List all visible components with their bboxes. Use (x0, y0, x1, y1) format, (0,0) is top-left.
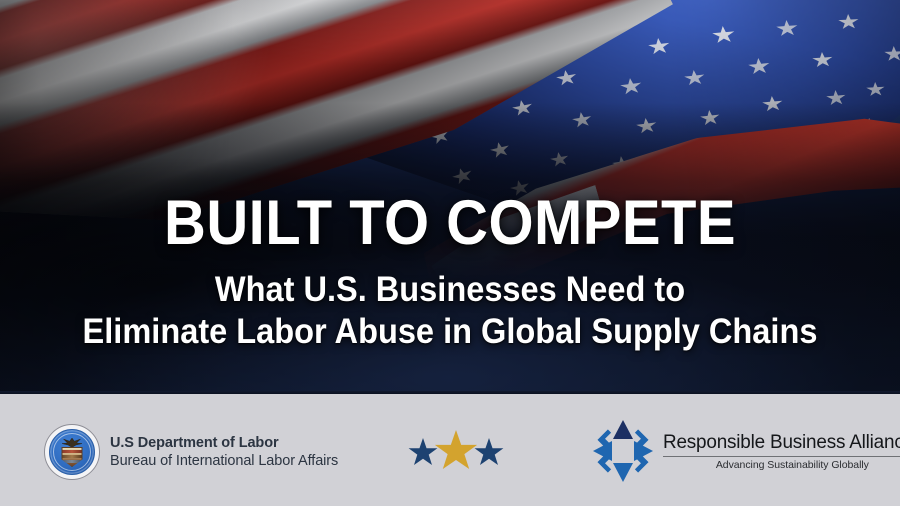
dol-agency-name: U.S Department of Labor (110, 434, 338, 452)
rba-organization-name: Responsible Business Alliance (663, 431, 900, 454)
subtitle-line-1: What U.S. Businesses Need to (32, 270, 869, 310)
seal-lettering-ring (50, 430, 94, 474)
star-right (474, 438, 504, 467)
seal-inner-disc (49, 429, 95, 475)
rba-logo-text: Responsible Business Alliance Advancing … (663, 431, 900, 471)
three-stars-icon (408, 430, 504, 474)
rba-tagline: Advancing Sustainability Globally (663, 459, 900, 471)
dol-bureau-name: Bureau of International Labor Affairs (110, 452, 338, 470)
arrow-down-icon (613, 463, 633, 482)
us-department-of-labor-seal-icon (44, 424, 100, 480)
rba-logo-lockup: Responsible Business Alliance Advancing … (592, 418, 900, 484)
chevron-top-right-icon (630, 429, 648, 447)
chevron-bottom-left-icon (597, 454, 615, 472)
arrow-up-icon (613, 420, 633, 439)
star-left (408, 438, 438, 467)
page-title: BUILT TO COMPETE (36, 192, 864, 254)
chevron-bottom-right-icon (630, 454, 648, 472)
rba-diamond-arrows-logo-icon (592, 418, 654, 484)
dol-logo-text: U.S Department of Labor Bureau of Intern… (110, 434, 338, 470)
subtitle-line-2: Eliminate Labor Abuse in Global Supply C… (32, 312, 869, 352)
title-block: BUILT TO COMPETE What U.S. Businesses Ne… (0, 192, 900, 352)
chevron-top-left-icon (597, 429, 615, 447)
report-cover: BUILT TO COMPETE What U.S. Businesses Ne… (0, 0, 900, 506)
star-center (434, 430, 478, 472)
rba-divider (663, 456, 900, 457)
dol-logo-lockup: U.S Department of Labor Bureau of Intern… (44, 424, 338, 480)
